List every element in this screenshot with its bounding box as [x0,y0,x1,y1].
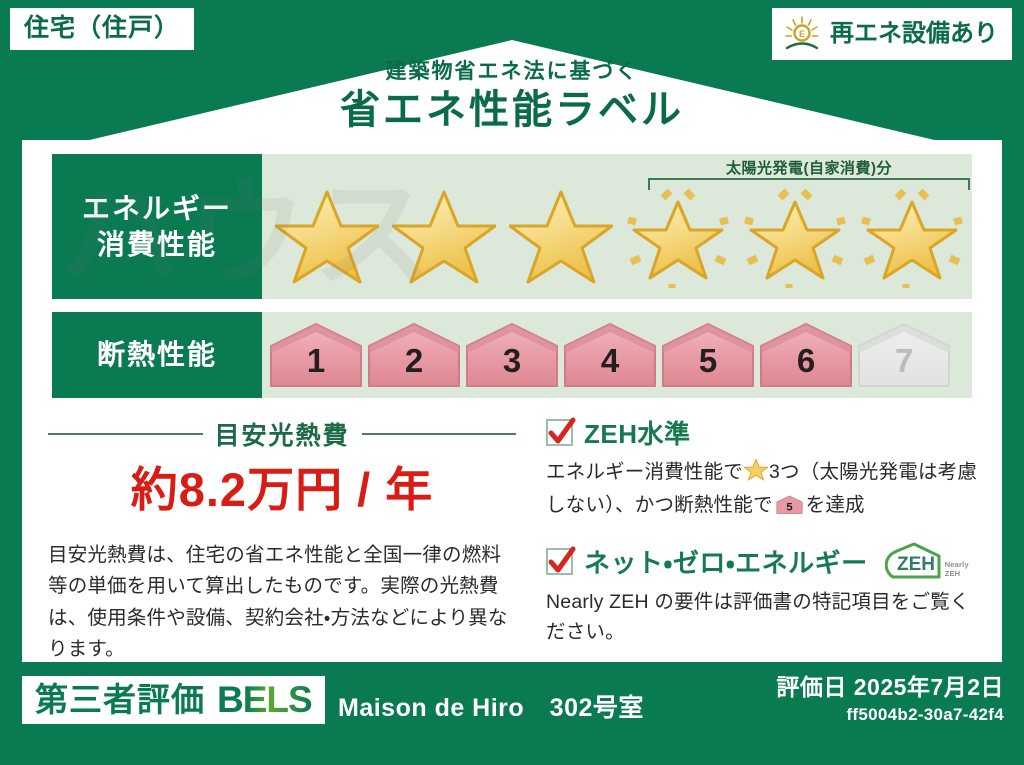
zeh-nearly-label: Nearly ZEH [945,561,969,581]
building-name: Maison de Hiro 302号室 [338,688,644,724]
zeh-body-text-1: エネルギー消費性能で [546,461,743,483]
zeh-section: ZEH水準 エネルギー消費性能で3つ（太陽光発電は考慮しない）、かつ断熱性能で5… [542,408,1002,662]
evaluation-date: 評価日 2025年7月2日 [776,674,1004,702]
energy-performance-label: エネルギー 消費性能 [52,154,262,299]
evaluation-id: ff5004b2-30a7-42f4 [776,705,1004,725]
star-icon-solar [736,184,853,288]
heading-rule-left [48,433,203,435]
energy-performance-body: 太陽光発電(自家消費)分 [262,154,972,299]
insulation-house-3: 3 [464,322,560,390]
utility-cost-value: 約8.2万円 / 年 [48,464,516,516]
energy-performance-row: エネルギー 消費性能 太陽光発電(自家消費)分 [52,154,972,299]
evaluation-info: 評価日 2025年7月2日 ff5004b2-30a7-42f4 [776,674,1004,725]
net-zero-checkbox[interactable] [546,548,573,575]
label-title: 建築物省エネ法に基づく 省エネ性能ラベル [0,60,1024,135]
insulation-house-5: 5 [660,322,756,390]
net-zero-title: ネット・ゼロ・エネルギー [584,543,868,580]
star-icon [268,184,385,288]
house-icon-inline: 5 [776,499,803,521]
label-card: エネルギー 消費性能 太陽光発電(自家消費)分 [22,140,1002,662]
insulation-level-number: 3 [503,344,521,390]
svg-text:E: E [799,29,805,39]
insulation-level-number: 5 [699,344,717,390]
utility-cost-heading: 目安光熱費 [48,416,516,452]
bels-en-label: BELS [217,681,312,718]
zeh-standard-title: ZEH水準 [584,414,691,451]
svg-text:5: 5 [786,501,792,513]
category-tag: 住宅（住戸） [10,8,194,50]
insulation-level-number: 2 [405,344,423,390]
insulation-house-1: 1 [268,322,364,390]
utility-cost-note: 目安光熱費は、住宅の省エネ性能と全国一律の燃料等の単価を用いて算出したものです。… [48,540,516,666]
zeh-standard-body: エネルギー消費性能で3つ（太陽光発電は考慮しない）、かつ断熱性能で5を達成 [546,458,982,525]
net-zero-energy-block: ネット・ゼロ・エネルギー ZEH Nearly ZEH [546,541,982,647]
renewable-badge-label: 再エネ設備あり [830,22,998,46]
zeh-standard-block: ZEH水準 エネルギー消費性能で3つ（太陽光発電は考慮しない）、かつ断熱性能で5… [546,414,982,525]
title-subtitle: 建築物省エネ法に基づく [0,60,1024,83]
svg-text:ZEH: ZEH [897,554,935,575]
insulation-performance-row: 断熱性能 [52,312,972,398]
insulation-performance-body: 1 2 3 [262,312,972,398]
zeh-logo: ZEH Nearly ZEH [885,541,969,581]
insulation-level-number: 4 [601,344,619,390]
sun-icon: E [782,14,822,54]
insulation-house-6: 6 [758,322,854,390]
star-icon-solar [619,184,736,288]
star-icon-inline [744,464,768,486]
net-zero-heading: ネット・ゼロ・エネルギー ZEH Nearly ZEH [546,541,982,581]
zeh-body-text-3: を達成 [806,494,865,516]
energy-star-rating [268,184,974,288]
insulation-level-number: 7 [895,344,913,390]
energy-label-line1: エネルギー [82,191,232,227]
star-icon [385,184,502,288]
energy-performance-label: 住宅（住戸） E 再エネ設備あり 建築物省エネ法に基づく 省エネ [0,0,1024,765]
solar-annotation-label: 太陽光発電(自家消費)分 [644,157,974,178]
utility-cost-title: 目安光熱費 [215,416,350,452]
star-icon-solar [853,184,970,288]
zeh-standard-heading: ZEH水準 [546,414,982,451]
insulation-level-scale: 1 2 3 [268,320,952,390]
insulation-house-7: 7 [856,322,952,390]
zeh-nearly-line2: ZEH [945,569,961,578]
star-icon [502,184,619,288]
insulation-house-2: 2 [366,322,462,390]
label-details: 目安光熱費 約8.2万円 / 年 目安光熱費は、住宅の省エネ性能と全国一律の燃料… [22,408,1002,662]
zeh-standard-checkbox[interactable] [546,419,573,446]
insulation-level-number: 1 [307,344,325,390]
net-zero-body: Nearly ZEH の要件は評価書の特記項目をご覧ください。 [546,588,982,647]
bels-logo: 第三者評価 BELS [22,676,325,724]
insulation-label-text: 断熱性能 [97,337,217,373]
title-main: 省エネ性能ラベル [0,85,1024,135]
insulation-level-number: 6 [797,344,815,390]
energy-label-line2: 消費性能 [97,227,217,263]
label-footer: 第三者評価 BELS Maison de Hiro 302号室 評価日 2025… [0,662,1024,765]
insulation-house-4: 4 [562,322,658,390]
insulation-performance-label: 断熱性能 [52,312,262,398]
heading-rule-right [362,433,517,435]
renewable-energy-badge: E 再エネ設備あり [772,8,1012,60]
utility-cost-section: 目安光熱費 約8.2万円 / 年 目安光熱費は、住宅の省エネ性能と全国一律の燃料… [22,408,542,662]
bels-jp-label: 第三者評価 [35,683,205,716]
